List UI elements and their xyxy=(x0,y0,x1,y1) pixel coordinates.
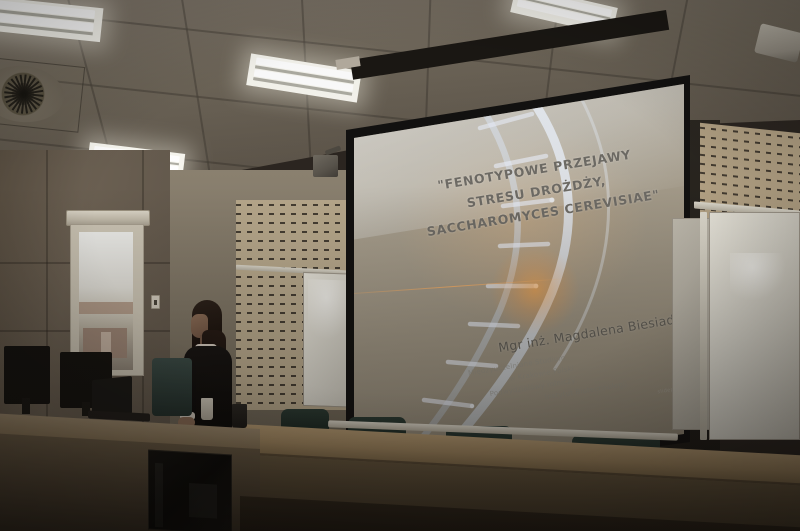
lecture-hall-photo: "FENOTYPOWE PRZEJAWY STRESU DROŻDŻY, SAC… xyxy=(0,0,800,531)
monitor-left xyxy=(4,346,50,404)
white-cup xyxy=(201,398,213,420)
presenter-chair[interactable] xyxy=(152,358,192,416)
whiteboard-vertical-rail xyxy=(700,212,707,440)
wall-speaker-center xyxy=(313,155,338,177)
window-glass xyxy=(79,232,133,370)
whiteboard-right-front[interactable] xyxy=(709,212,800,440)
wall-sensor[interactable] xyxy=(151,295,160,309)
paper-cup xyxy=(232,404,247,428)
monitor-left-stand xyxy=(22,398,30,414)
slide-author: Mgr inż. Magdalena Biesiadecka xyxy=(497,307,690,355)
wall-seam xyxy=(46,150,48,450)
lectern-glass-panel xyxy=(148,450,232,531)
projection-screen: "FENOTYPOWE PRZEJAWY STRESU DROŻDŻY, SAC… xyxy=(340,70,690,450)
